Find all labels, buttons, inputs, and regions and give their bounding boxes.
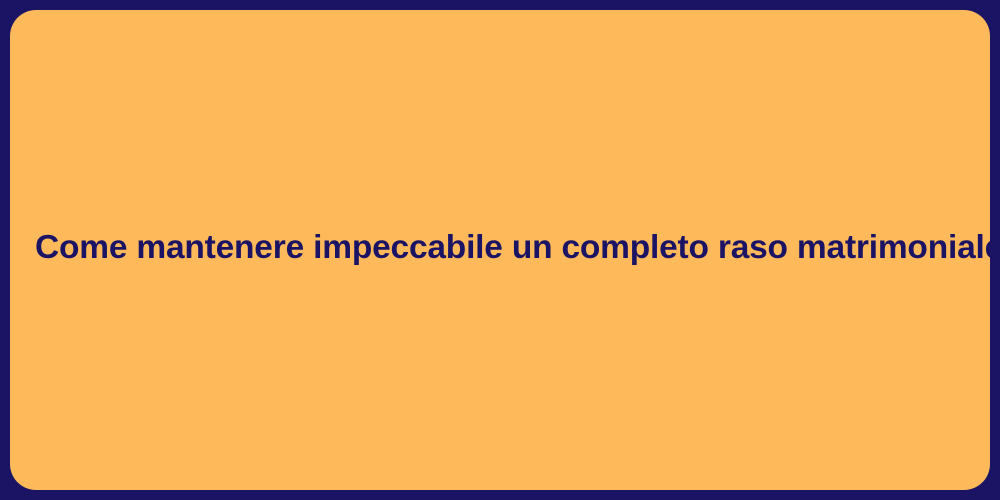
headline-card: Come mantenere impeccabile un completo r… (10, 10, 990, 490)
page-title: Come mantenere impeccabile un completo r… (35, 229, 990, 268)
page-frame: Come mantenere impeccabile un completo r… (0, 0, 1000, 500)
